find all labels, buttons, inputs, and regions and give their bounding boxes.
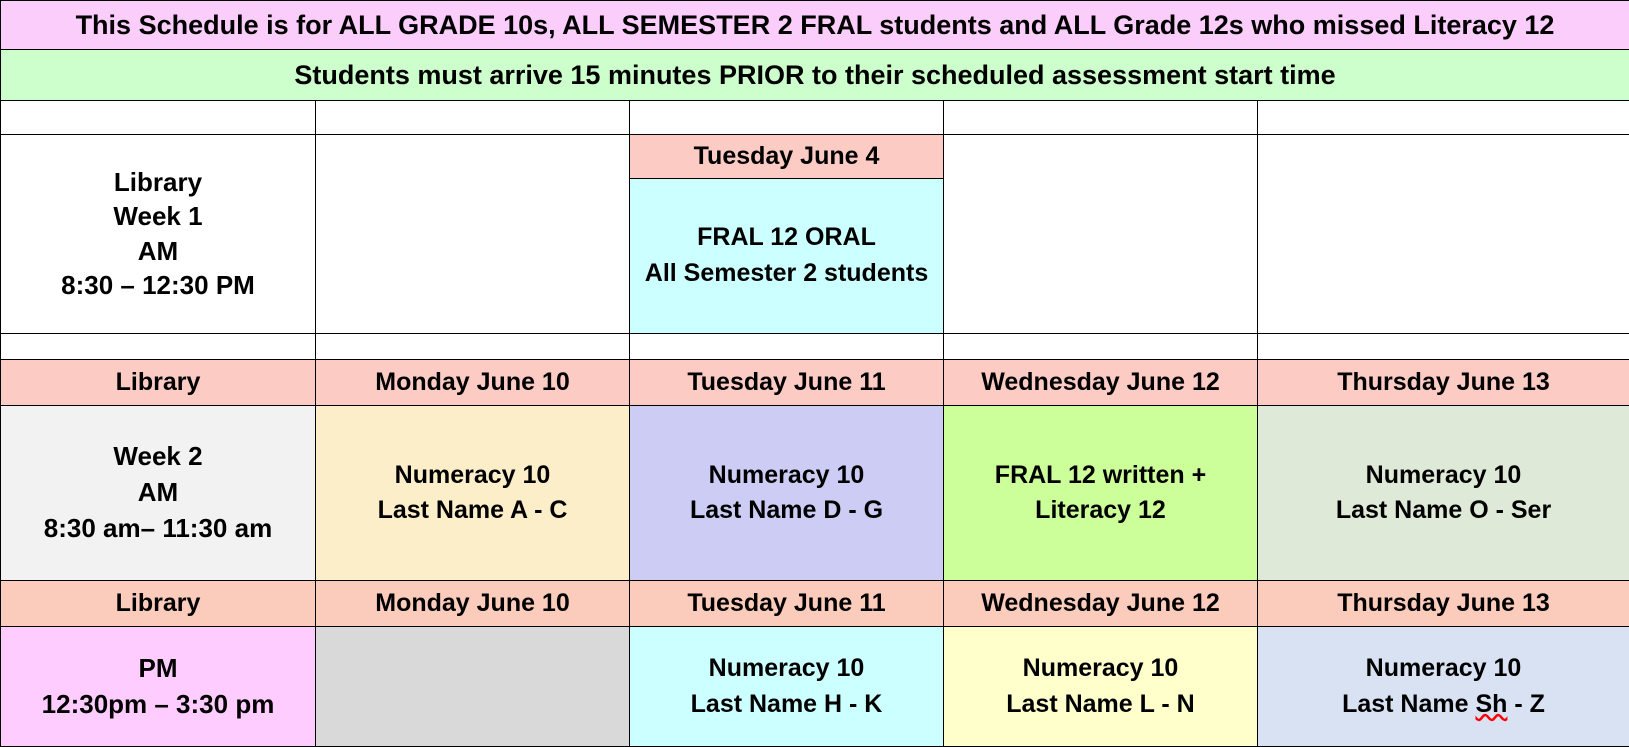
week2-am-cell-monday: Numeracy 10 Last Name A - C (316, 405, 630, 581)
notice-banner-row: This Schedule is for ALL GRADE 10s, ALL … (1, 1, 1629, 50)
week2-pm-day-monday: Monday June 10 (316, 581, 630, 627)
spacer2-cell-3 (944, 333, 1258, 359)
week2-am-header-row: Library Monday June 10 Tuesday June 11 W… (1, 359, 1629, 405)
week2-am-week: Week 2 (7, 439, 309, 475)
week2-am-day-tuesday: Tuesday June 11 (630, 359, 944, 405)
assessment-schedule-table: This Schedule is for ALL GRADE 10s, ALL … (0, 0, 1629, 747)
week1-label-cell: Library Week 1 AM 8:30 – 12:30 PM (1, 135, 316, 334)
spacer2-cell-2 (630, 333, 944, 359)
spacer-cell-1 (316, 101, 630, 135)
schedule-sheet: This Schedule is for ALL GRADE 10s, ALL … (0, 0, 1629, 747)
week2-pm-tuesday-line2: Last Name H - K (636, 687, 937, 723)
week1-empty-thursday (1258, 135, 1629, 334)
week2-pm-day-thursday: Thursday June 13 (1258, 581, 1629, 627)
week2-pm-label-cell: PM 12:30pm – 3:30 pm (1, 627, 316, 747)
week2-pm-day-tuesday: Tuesday June 11 (630, 581, 944, 627)
week1-date-row: Library Week 1 AM 8:30 – 12:30 PM Tuesda… (1, 135, 1629, 179)
week2-pm-cell-thursday: Numeracy 10 Last Name Sh - Z (1258, 627, 1629, 747)
week2-pm-body-row: PM 12:30pm – 3:30 pm Numeracy 10 Last Na… (1, 627, 1629, 747)
week2-am-cell-thursday: Numeracy 10 Last Name O - Ser (1258, 405, 1629, 581)
week2-am-thursday-line2: Last Name O - Ser (1264, 493, 1623, 529)
week1-session-line2: All Semester 2 students (636, 256, 937, 292)
week2-pm-thursday-line2: Last Name Sh - Z (1264, 687, 1623, 723)
spacer2-cell-4 (1258, 333, 1629, 359)
week2-am-period: AM (7, 475, 309, 511)
week2-am-day-thursday: Thursday June 13 (1258, 359, 1629, 405)
arrival-banner: Students must arrive 15 minutes PRIOR to… (1, 50, 1629, 101)
week2-am-cell-wednesday: FRAL 12 written + Literacy 12 (944, 405, 1258, 581)
week2-pm-time: 12:30pm – 3:30 pm (7, 687, 309, 723)
week2-am-day-wednesday: Wednesday June 12 (944, 359, 1258, 405)
week2-pm-cell-tuesday: Numeracy 10 Last Name H - K (630, 627, 944, 747)
week2-pm-header-row: Library Monday June 10 Tuesday June 11 W… (1, 581, 1629, 627)
week1-week: Week 1 (7, 199, 309, 234)
week2-pm-tuesday-line1: Numeracy 10 (636, 651, 937, 687)
week2-pm-cell-monday (316, 627, 630, 747)
spacer2-cell-0 (1, 333, 316, 359)
week2-am-location: Library (1, 359, 316, 405)
week2-pm-location: Library (1, 581, 316, 627)
spacer-cell-2 (630, 101, 944, 135)
week2-am-monday-line2: Last Name A - C (322, 493, 623, 529)
week1-period: AM (7, 234, 309, 269)
week2-pm-wednesday-line2: Last Name L - N (950, 687, 1251, 723)
arrival-banner-row: Students must arrive 15 minutes PRIOR to… (1, 50, 1629, 101)
week2-am-tuesday-line2: Last Name D - G (636, 493, 937, 529)
week1-empty-wednesday (944, 135, 1258, 334)
spacer-cell-0 (1, 101, 316, 135)
week2-am-body-row: Week 2 AM 8:30 am– 11:30 am Numeracy 10 … (1, 405, 1629, 581)
week2-pm-period: PM (7, 651, 309, 687)
week2-am-wednesday-line1: FRAL 12 written + (950, 458, 1251, 494)
week2-am-tuesday-line1: Numeracy 10 (636, 458, 937, 494)
week2-pm-wednesday-line1: Numeracy 10 (950, 651, 1251, 687)
week1-date-tuesday: Tuesday June 4 (630, 135, 944, 179)
week2-am-thursday-line1: Numeracy 10 (1264, 458, 1623, 494)
week2-am-cell-tuesday: Numeracy 10 Last Name D - G (630, 405, 944, 581)
week2-pm-thursday-suffix: - Z (1507, 690, 1545, 718)
notice-banner: This Schedule is for ALL GRADE 10s, ALL … (1, 1, 1629, 50)
week2-am-day-monday: Monday June 10 (316, 359, 630, 405)
week2-pm-day-wednesday: Wednesday June 12 (944, 581, 1258, 627)
week2-am-time: 8:30 am– 11:30 am (7, 511, 309, 547)
spacer-row-top (1, 101, 1629, 135)
week2-am-wednesday-line2: Literacy 12 (950, 493, 1251, 529)
spacer-cell-4 (1258, 101, 1629, 135)
week2-pm-thursday-prefix: Last Name (1342, 690, 1475, 718)
week2-am-monday-line1: Numeracy 10 (322, 458, 623, 494)
week1-session-line1: FRAL 12 ORAL (636, 220, 937, 256)
spacer-cell-3 (944, 101, 1258, 135)
week1-time: 8:30 – 12:30 PM (7, 268, 309, 303)
week2-pm-cell-wednesday: Numeracy 10 Last Name L - N (944, 627, 1258, 747)
week2-pm-thursday-misspelled-token: Sh (1475, 690, 1507, 718)
week1-empty-monday (316, 135, 630, 334)
week1-session-fral-oral: FRAL 12 ORAL All Semester 2 students (630, 179, 944, 334)
spacer2-cell-1 (316, 333, 630, 359)
week2-pm-thursday-line1: Numeracy 10 (1264, 651, 1623, 687)
week2-am-label-cell: Week 2 AM 8:30 am– 11:30 am (1, 405, 316, 581)
week1-location: Library (7, 165, 309, 200)
spacer-row-middle (1, 333, 1629, 359)
